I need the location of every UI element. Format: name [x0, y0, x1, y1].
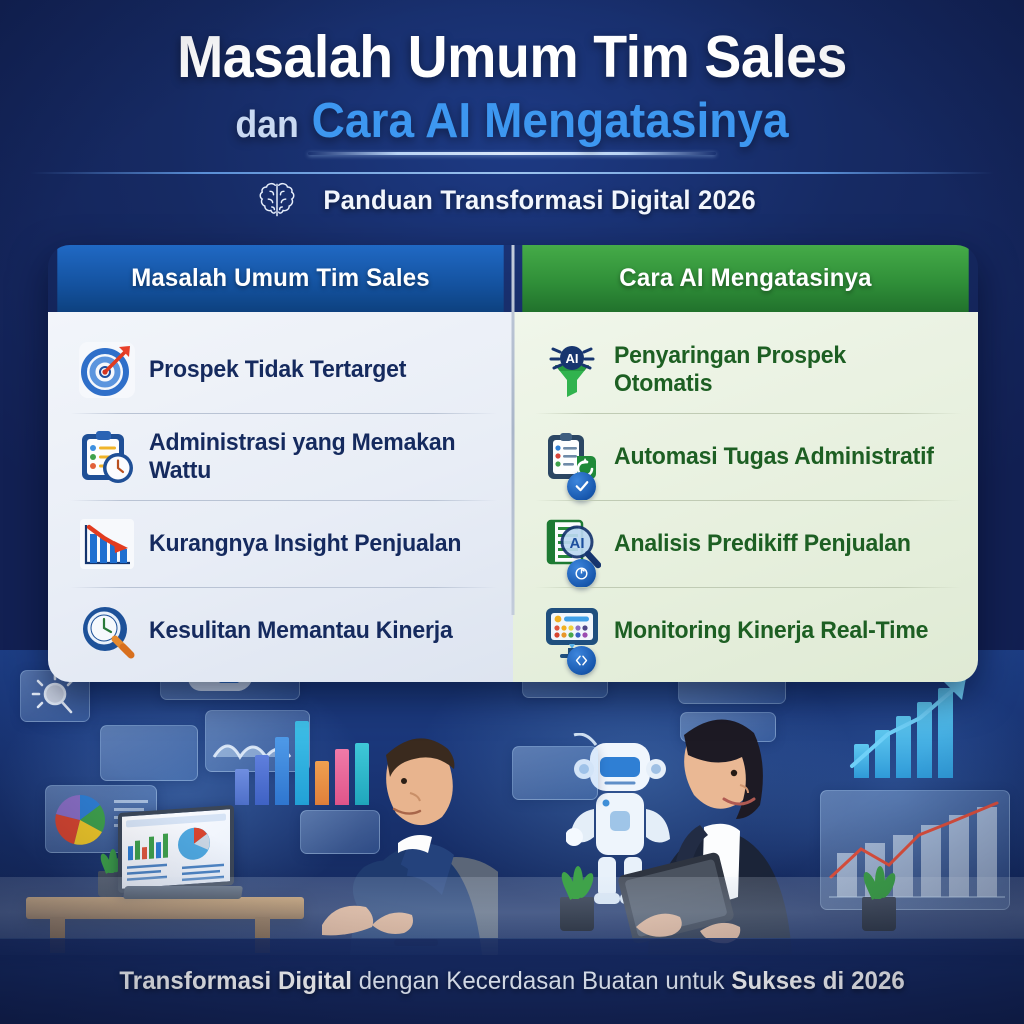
illustration-scene: [0, 650, 1024, 955]
dashboard-panel: [100, 725, 198, 781]
table-row: Kesulitan Memantau Kinerja: [48, 587, 513, 674]
svg-text:AI: AI: [566, 351, 579, 366]
table-row: AI Analisis Predikiff Penjualan: [513, 500, 978, 587]
infographic-poster: Masalah Umum Tim Sales dan Cara AI Menga…: [0, 0, 1024, 1024]
row-label: Kurangnya Insight Penjualan: [149, 530, 461, 557]
ai-funnel-icon: AI: [543, 341, 601, 399]
footer-bold-2: Sukses di 2026: [731, 967, 904, 995]
realtime-badge-icon: [567, 646, 596, 675]
potted-plant: [862, 897, 896, 931]
target-arrow-icon: [78, 341, 136, 399]
problems-column: Prospek Tidak Tertarget: [48, 312, 513, 682]
column-header-solutions: Cara AI Mengatasinya: [522, 245, 968, 312]
subtitle: Panduan Transformasi Digital 2026: [324, 185, 757, 216]
comparison-table: Masalah Umum Tim Sales Cara AI Mengatasi…: [48, 245, 978, 682]
title-underline-accent: [308, 152, 716, 155]
ui-panel: [512, 746, 598, 800]
table-row: Kurangnya Insight Penjualan: [48, 500, 513, 587]
title-prefix: dan: [235, 104, 299, 146]
row-label: Analisis Predikiff Penjualan: [614, 530, 911, 557]
row-label: Prospek Tidak Tertarget: [149, 356, 406, 383]
footer-bold-1: Transformasi Digital: [119, 967, 352, 995]
table-body: Prospek Tidak Tertarget: [48, 312, 978, 682]
page-title-line1: Masalah Umum Tim Sales: [31, 26, 994, 90]
page-title-line2: dan Cara AI Mengatasinya: [31, 94, 994, 149]
brain-icon: [256, 180, 298, 220]
title-accent: Cara AI Mengatasinya: [312, 94, 789, 148]
footer-mid: dengan Kecerdasan Buatan untuk: [352, 967, 731, 995]
check-badge-icon: [567, 472, 596, 501]
subtitle-row: Panduan Transformasi Digital 2026: [0, 180, 1024, 220]
table-row: Administrasi yang Memakan Wattu: [48, 413, 513, 500]
row-label: Penyaringan Prospek Otomatis: [614, 342, 948, 397]
table-row: Monitoring Kinerja Real-Time: [513, 587, 978, 674]
row-label: Monitoring Kinerja Real-Time: [614, 617, 928, 644]
ai-magnifier-report-icon: AI: [543, 515, 601, 573]
table-row: Prospek Tidak Tertarget: [48, 326, 513, 413]
footer-text: Transformasi Digital dengan Kecerdasan B…: [119, 967, 904, 996]
growth-arrow-icon: [848, 674, 978, 774]
solutions-column: AI Penyaringan Prospek Otomatis: [513, 312, 978, 682]
title-block: Masalah Umum Tim Sales dan Cara AI Menga…: [0, 0, 1024, 155]
header-divider: [30, 172, 994, 174]
table-row: Automasi Tugas Administratif: [513, 413, 978, 500]
clipboard-refresh-icon: [543, 428, 601, 486]
potted-plant: [560, 897, 594, 931]
svg-text:AI: AI: [570, 535, 585, 552]
dashboard-monitor-icon: [543, 602, 601, 660]
analytics-badge-icon: [567, 559, 596, 588]
poster-footer: Transformasi Digital dengan Kecerdasan B…: [0, 938, 1024, 1024]
poster-header: Masalah Umum Tim Sales dan Cara AI Menga…: [0, 0, 1024, 236]
row-label: Administrasi yang Memakan Wattu: [149, 429, 483, 484]
row-label: Kesulitan Memantau Kinerja: [149, 617, 453, 644]
declining-bar-chart-icon: [78, 515, 136, 573]
row-label: Automasi Tugas Administratif: [614, 443, 934, 470]
column-divider: [512, 245, 515, 615]
clock-magnifier-icon: [78, 602, 136, 660]
clipboard-clock-icon: [78, 428, 136, 486]
column-header-problems: Masalah Umum Tim Sales: [57, 245, 503, 312]
table-row: AI Penyaringan Prospek Otomatis: [513, 326, 978, 413]
